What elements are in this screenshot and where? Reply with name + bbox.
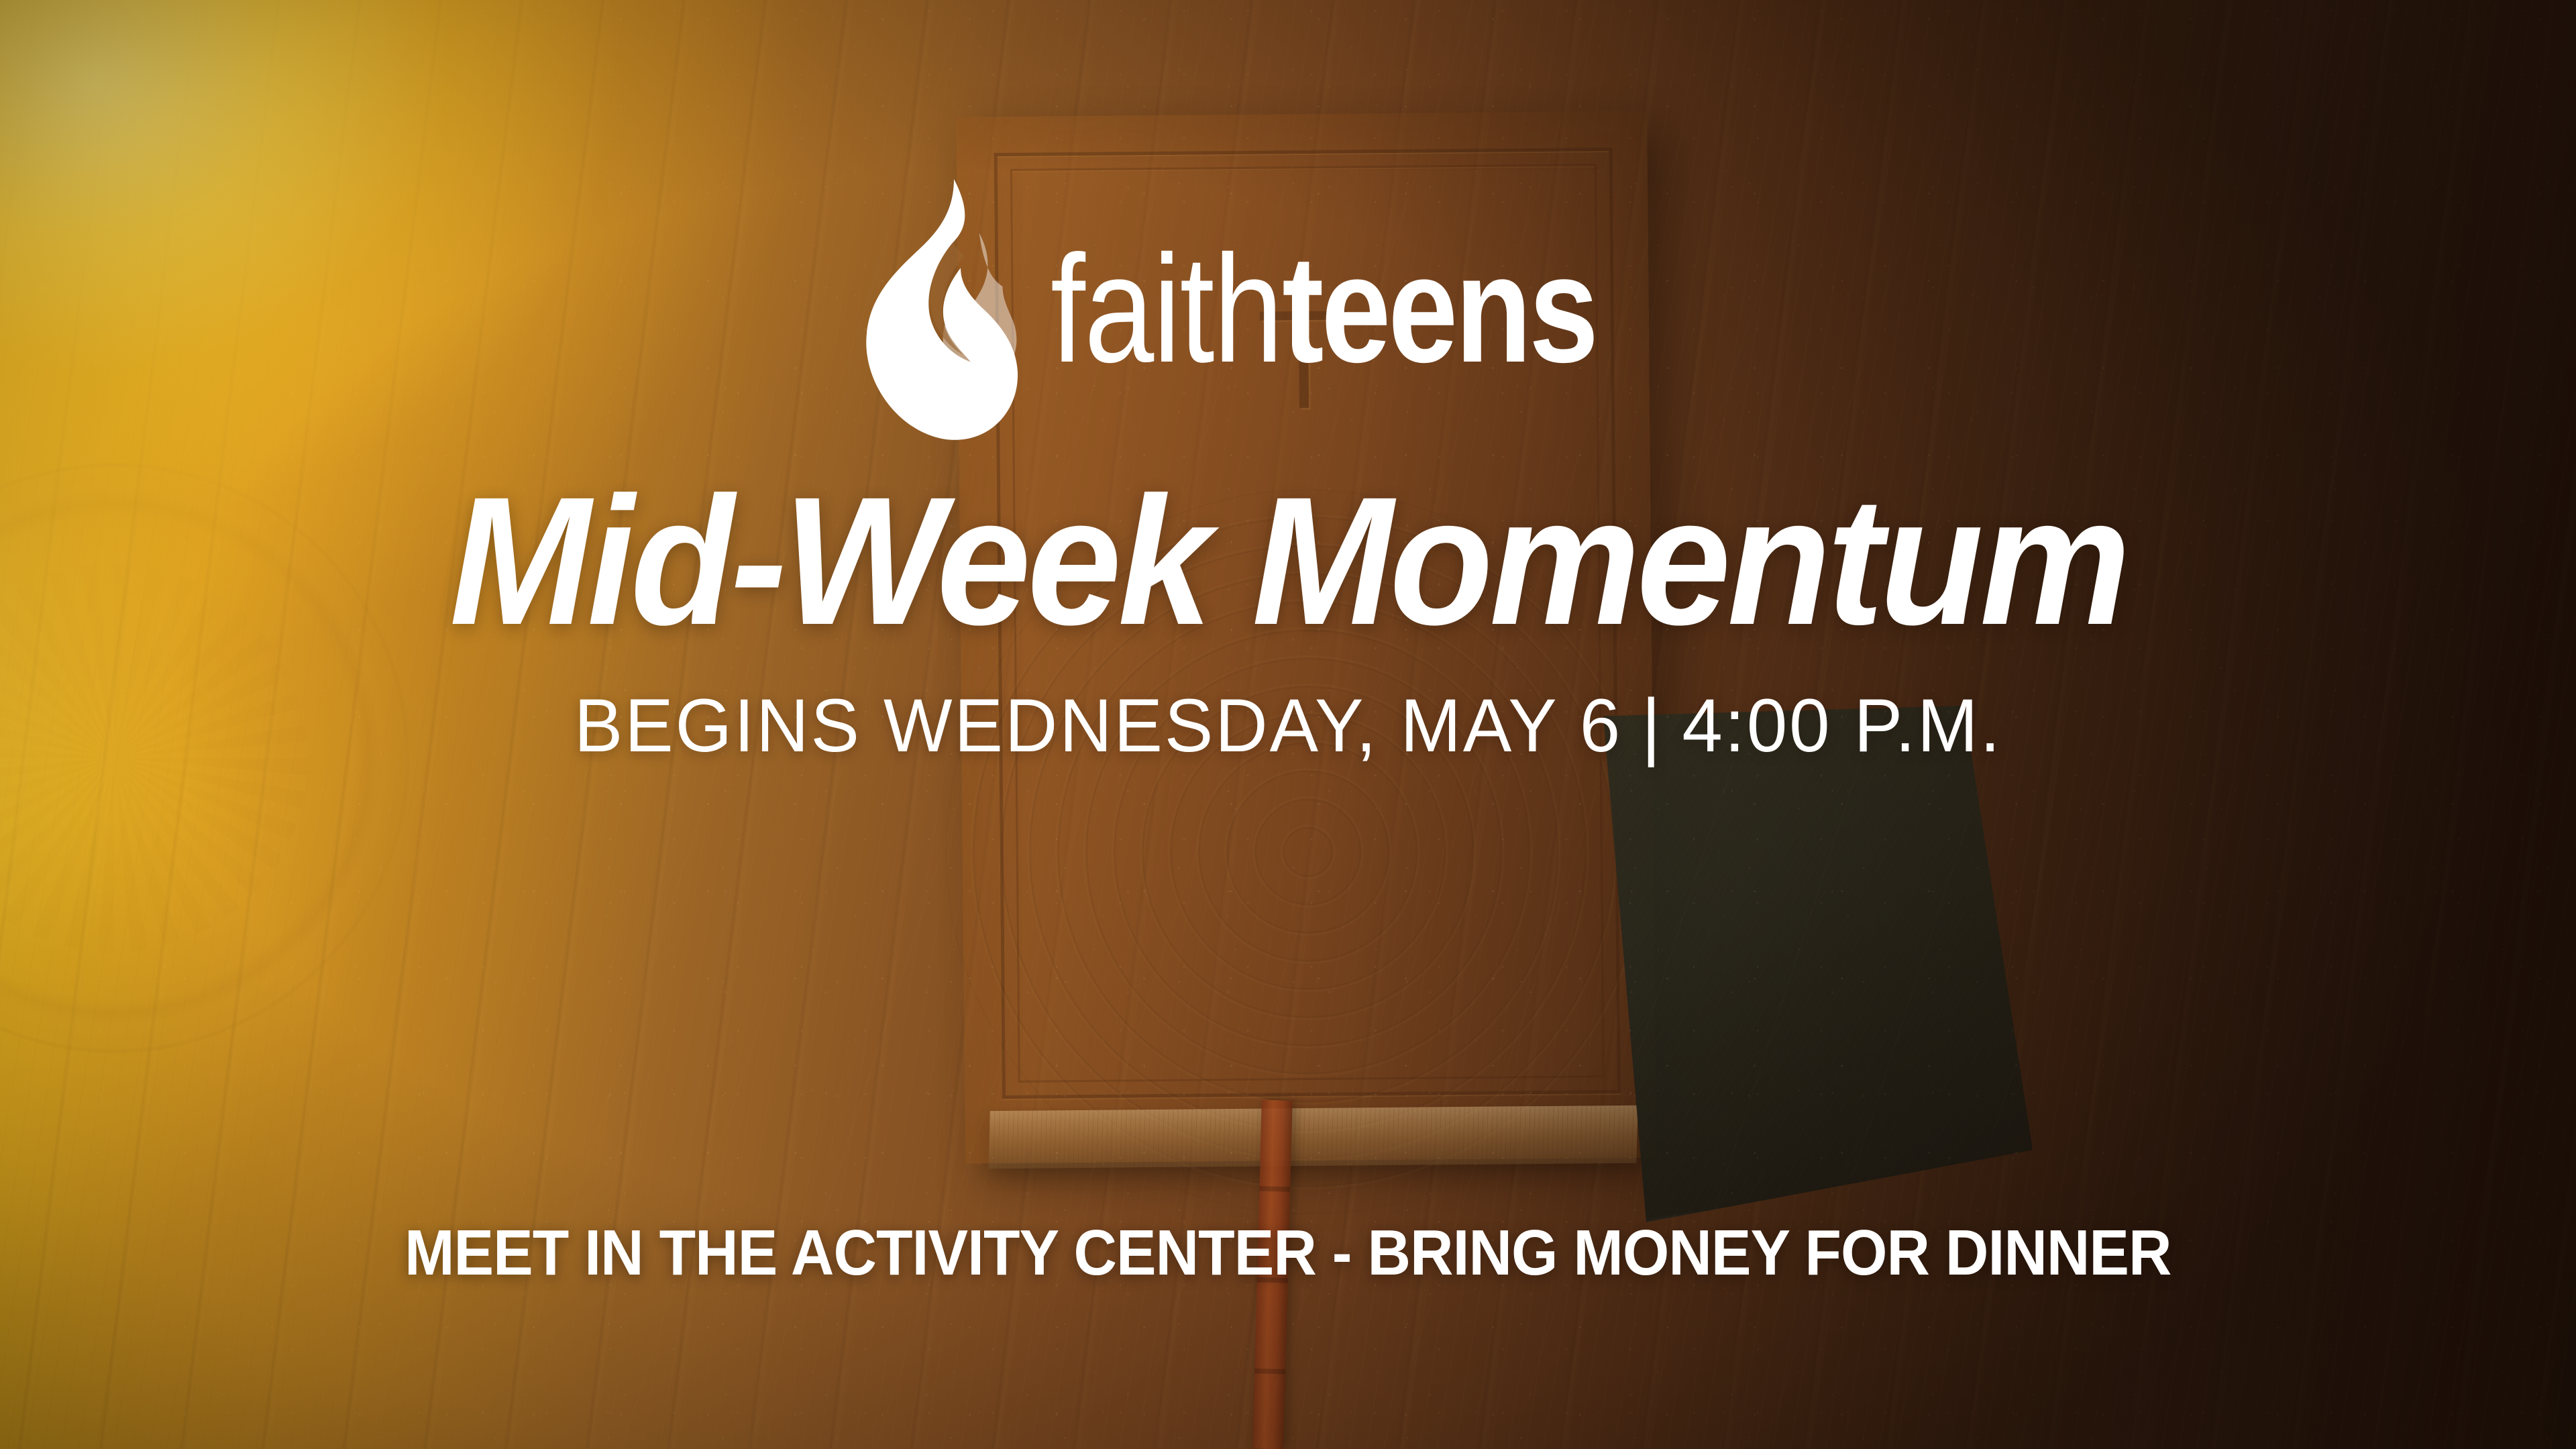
footer-instructions: MEET IN THE ACTIVITY CENTER - BRING MONE… <box>405 1221 2171 1285</box>
event-date: BEGINS WEDNESDAY, MAY 6 <box>574 684 1622 767</box>
brand-word-teens: teens <box>1282 224 1596 394</box>
subtitle-separator: | <box>1622 688 1682 763</box>
brand-wordmark: faithteens <box>1051 241 1596 378</box>
brand-word-faith: faith <box>1051 224 1282 394</box>
brand-logo-lockup: faithteens <box>860 176 1716 444</box>
event-subtitle: BEGINS WEDNESDAY, MAY 6|4:00 P.M. <box>574 688 2002 763</box>
event-title: Mid-Week Momentum <box>449 470 2127 652</box>
event-time: 4:00 P.M. <box>1682 684 2002 767</box>
footer-banner: MEET IN THE ACTIVITY CENTER - BRING MONE… <box>0 1221 2576 1285</box>
flame-icon <box>860 176 1028 444</box>
flyer-canvas: faithteens Mid-Week Momentum BEGINS WEDN… <box>0 0 2576 1449</box>
